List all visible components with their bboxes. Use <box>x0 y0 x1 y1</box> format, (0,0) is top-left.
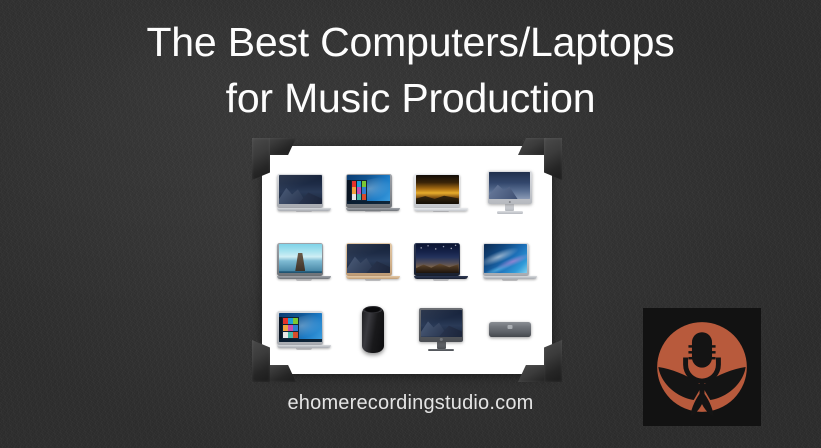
screen-wallpaper <box>347 175 390 204</box>
screen-wallpaper <box>279 175 322 204</box>
title-line-1: The Best Computers/Laptops <box>0 14 821 70</box>
screen-wallpaper <box>421 310 462 337</box>
mac-mini-space-gray <box>489 322 531 337</box>
title-line-2: for Music Production <box>0 70 821 126</box>
imac-27-silver <box>488 171 532 214</box>
device-cell <box>476 295 545 364</box>
device-cell <box>270 158 339 227</box>
macbook-air-silver <box>483 243 537 280</box>
device-grid <box>270 158 544 364</box>
device-cell <box>339 158 408 227</box>
screen-wallpaper <box>279 244 322 273</box>
mac-pro-cylinder <box>362 306 384 353</box>
screen-wallpaper <box>347 244 390 273</box>
device-cell <box>339 227 408 296</box>
device-cell <box>476 158 545 227</box>
screen-wallpaper <box>416 175 459 204</box>
hp-envy-laptop <box>414 174 468 211</box>
screen-wallpaper <box>416 244 459 273</box>
microphone-leaves-icon <box>643 308 761 426</box>
macbook-gold <box>346 243 400 280</box>
slide-canvas: The Best Computers/Laptops for Music Pro… <box>0 0 821 448</box>
dell-xps-convertible <box>277 243 331 280</box>
screen-wallpaper <box>489 172 530 199</box>
windows-laptop-start-menu <box>346 174 400 211</box>
imac-pro-space-gray <box>419 308 463 351</box>
device-cell <box>270 227 339 296</box>
device-cell <box>270 295 339 364</box>
device-cell <box>407 158 476 227</box>
asus-zenbook-navy <box>414 243 468 280</box>
device-cell <box>476 227 545 296</box>
brand-logo[interactable] <box>643 308 761 426</box>
device-collage-card <box>262 146 552 374</box>
macbook-pro-15 <box>277 174 331 211</box>
screen-wallpaper <box>484 244 527 273</box>
device-cell <box>339 295 408 364</box>
device-cell <box>407 295 476 364</box>
dell-inspiron-windows <box>277 311 331 348</box>
device-cell <box>407 227 476 296</box>
screen-wallpaper <box>279 313 322 342</box>
page-title: The Best Computers/Laptops for Music Pro… <box>0 14 821 126</box>
